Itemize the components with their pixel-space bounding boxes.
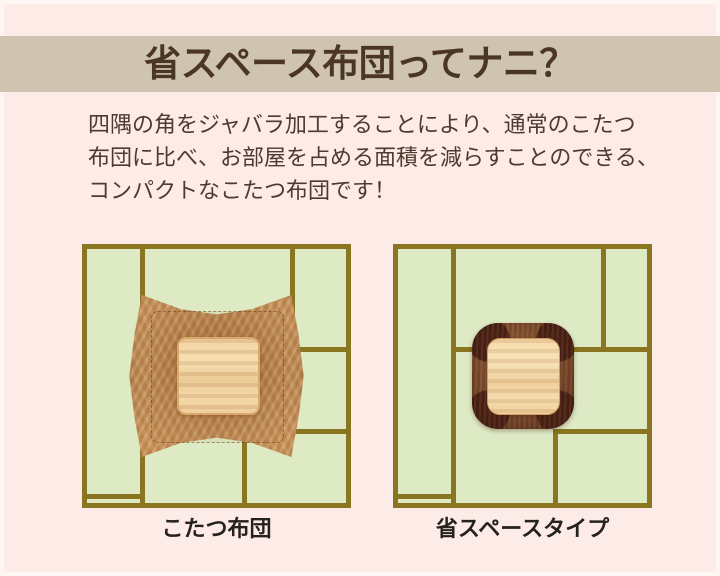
tatami-line (553, 429, 558, 508)
tatami-line (393, 494, 451, 499)
comparison-panel-standard (82, 244, 351, 508)
kotatsu-futon-standard (128, 288, 306, 464)
tatami-line (451, 429, 456, 508)
tatami-line (553, 429, 652, 434)
caption-compact: 省スペースタイプ (393, 515, 652, 545)
infographic-page: 省スペース布団ってナニ？ 四隅の角をジャバラ加工することにより、通常のこたつ 布… (0, 0, 720, 576)
title-banner: 省スペース布団ってナニ？ (0, 36, 720, 92)
kotatsu-tabletop (177, 337, 259, 415)
tatami-line (82, 494, 140, 499)
description-text: 四隅の角をジャバラ加工することにより、通常のこたつ 布団に比べ、お部屋を占める面… (88, 109, 668, 208)
caption-standard: こたつ布団 (82, 515, 351, 545)
description-line-3: コンパクトなこたつ布団です！ (88, 175, 668, 208)
kotatsu-futon-compact (472, 323, 574, 429)
page-title: 省スペース布団ってナニ？ (144, 45, 576, 82)
comparison-panel-compact (393, 244, 652, 508)
description-line-2: 布団に比べ、お部屋を占める面積を減らすことのできる、 (88, 142, 668, 175)
description-line-1: 四隅の角をジャバラ加工することにより、通常のこたつ (88, 109, 668, 142)
tatami-line (601, 244, 606, 347)
kotatsu-tabletop (487, 338, 560, 415)
